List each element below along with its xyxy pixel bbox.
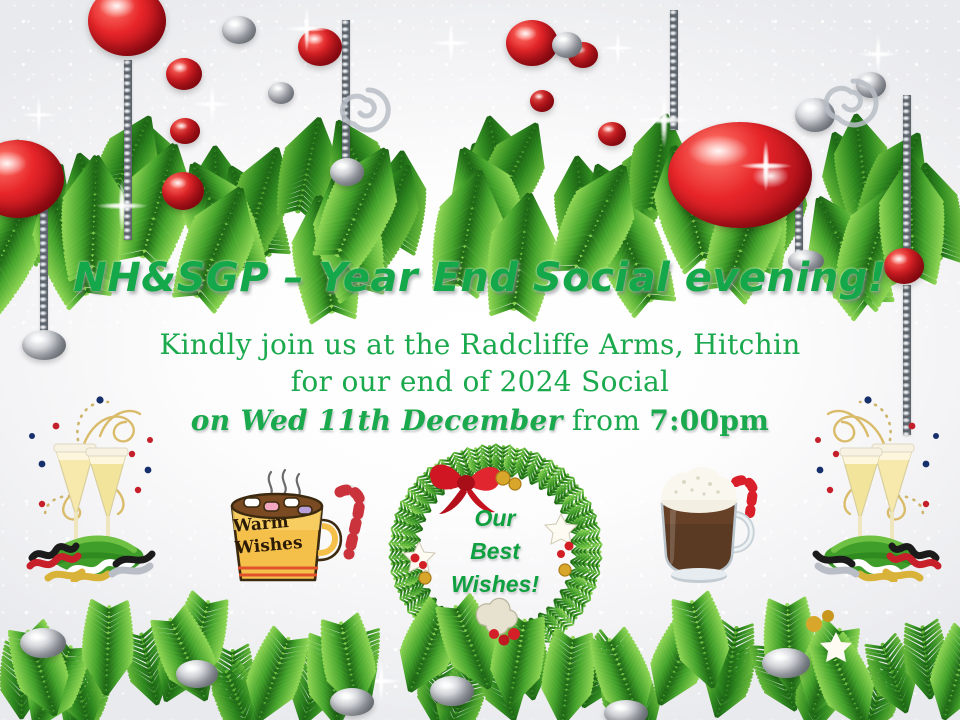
- bauble-silver: [20, 628, 66, 658]
- bauble-red: [298, 28, 342, 66]
- invite-line-1: Kindly join us at the Radcliffe Arms, Hi…: [0, 328, 960, 361]
- page-title: NH&SGP – Year End Social evening!: [0, 255, 960, 301]
- sparkle-icon: [430, 22, 472, 64]
- date-line-middle: from: [563, 404, 650, 437]
- spiral-ornament-icon: [820, 70, 886, 136]
- holly-sprig-icon: [470, 588, 580, 668]
- bauble-silver: [330, 158, 364, 186]
- sparkle-icon: [96, 180, 148, 232]
- sparkle-icon: [20, 96, 58, 134]
- warm-wishes-mug-clipart: Warm Wishes: [218, 458, 368, 593]
- bauble-red: [162, 172, 204, 210]
- bauble-red: [598, 122, 626, 146]
- bauble-red: [506, 20, 558, 66]
- bauble-red: [170, 118, 200, 144]
- bauble-silver: [176, 660, 218, 688]
- bauble-red: [530, 90, 554, 112]
- bauble-silver: [552, 32, 582, 58]
- bauble-silver: [430, 676, 474, 706]
- bauble-silver: [604, 700, 648, 720]
- sparkle-icon: [636, 92, 692, 148]
- champagne-glasses-clipart-right: [796, 392, 956, 582]
- sparkle-icon: [600, 30, 636, 66]
- event-time: 7:00pm: [649, 404, 769, 437]
- bauble-red-large: [668, 122, 812, 228]
- bead-string: [670, 10, 678, 130]
- mug-label: Warm Wishes: [232, 508, 322, 559]
- sparkle-icon: [858, 34, 898, 74]
- wreath-line-1: Our: [395, 502, 595, 535]
- sparkle-icon: [192, 84, 232, 124]
- event-date: on Wed 11th December: [191, 404, 563, 437]
- bauble-silver: [222, 16, 256, 44]
- bauble-red: [166, 58, 202, 90]
- bauble-silver: [330, 688, 374, 716]
- sparkle-icon: [120, 640, 166, 686]
- sparkle-icon: [690, 650, 736, 696]
- christmas-invitation-card: NH&SGP – Year End Social evening! Kindly…: [0, 0, 960, 720]
- bead-string: [124, 60, 132, 240]
- bauble-red: [88, 0, 166, 56]
- bead-string: [903, 95, 911, 265]
- champagne-glasses-clipart-left: [12, 392, 172, 582]
- wreath-message: Our Best Wishes!: [395, 502, 595, 601]
- bauble-silver: [762, 648, 810, 678]
- wreath-line-2: Best: [395, 535, 595, 568]
- bauble-red: [0, 140, 64, 218]
- bauble-silver: [268, 82, 294, 104]
- hot-chocolate-clipart: [640, 452, 770, 587]
- spiral-ornament-icon: [338, 80, 398, 140]
